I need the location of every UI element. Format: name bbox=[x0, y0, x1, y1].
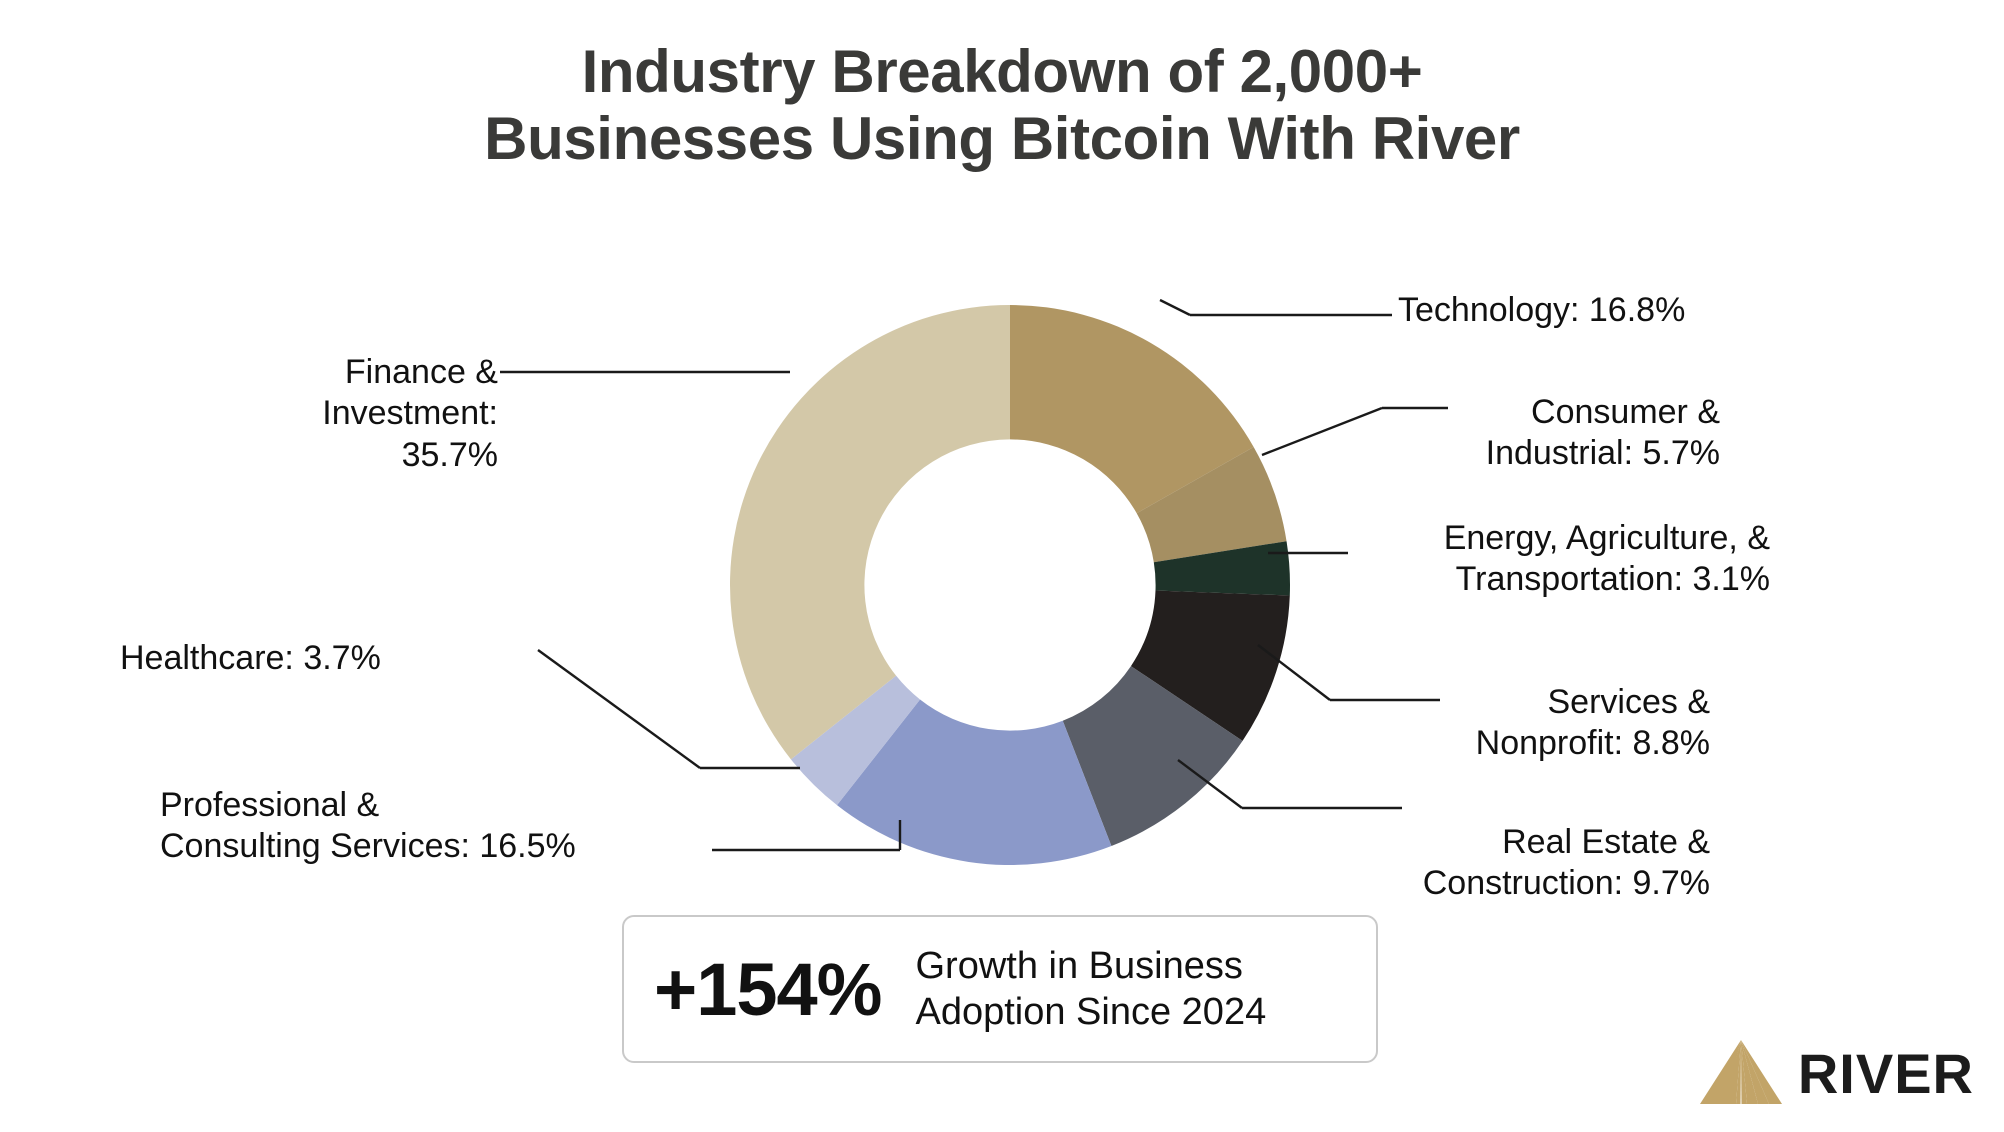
label-finance-investment: Finance & Investment: 35.7% bbox=[168, 352, 498, 476]
label-healthcare: Healthcare: 3.7% bbox=[120, 638, 430, 679]
label-professional-consulting: Professional & Consulting Services: 16.5… bbox=[160, 785, 580, 868]
stat-value: +154% bbox=[654, 947, 881, 1032]
river-logo: RIVER bbox=[1698, 1036, 1974, 1110]
stat-callout-box: +154% Growth in Business Adoption Since … bbox=[622, 915, 1378, 1063]
label-services-nonprofit: Services & Nonprofit: 8.8% bbox=[1330, 682, 1710, 765]
label-energy-agriculture-transportation: Energy, Agriculture, & Transportation: 3… bbox=[1340, 518, 1770, 601]
label-real-estate-construction: Real Estate & Construction: 9.7% bbox=[1330, 822, 1710, 905]
river-mark-icon bbox=[1698, 1036, 1784, 1110]
leader-technology bbox=[1160, 300, 1190, 315]
leader-healthcare bbox=[538, 650, 700, 768]
stat-caption: Growth in Business Adoption Since 2024 bbox=[915, 943, 1266, 1036]
infographic-canvas: Industry Breakdown of 2,000+ Businesses … bbox=[0, 0, 2004, 1132]
river-wordmark: RIVER bbox=[1798, 1041, 1974, 1106]
label-consumer-industrial: Consumer & Industrial: 5.7% bbox=[1320, 392, 1720, 475]
label-technology: Technology: 16.8% bbox=[1398, 290, 1818, 331]
